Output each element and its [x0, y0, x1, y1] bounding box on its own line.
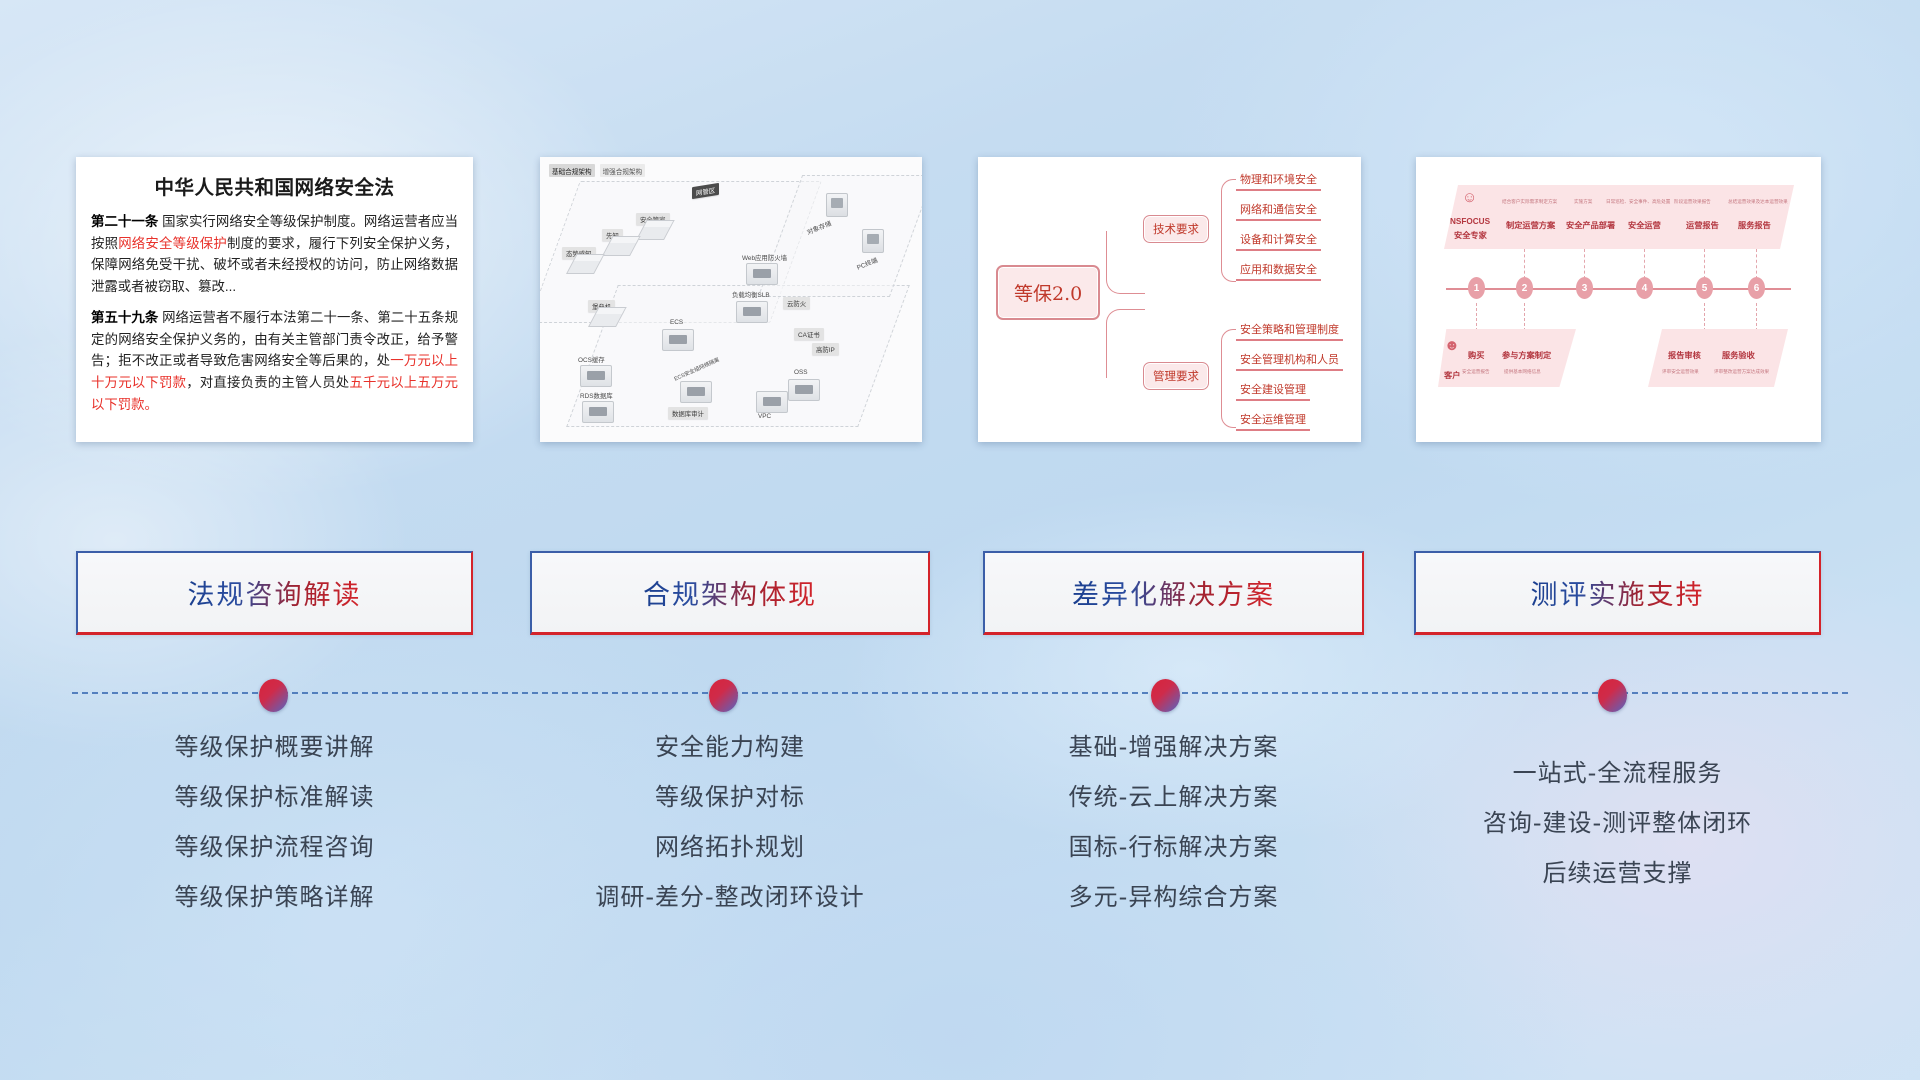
- list-item: 安全能力构建: [530, 735, 930, 759]
- timeline-dot-1: [259, 679, 288, 712]
- list-item: 等级保护概要讲解: [76, 735, 473, 759]
- mindmap-leaf-network-comm: 网络和通信安全: [1236, 201, 1321, 221]
- architecture-icon-pc-1: [826, 193, 848, 217]
- customer-avatar-icon: ☻: [1444, 337, 1460, 354]
- roadmap-actor-nsfocus-line2: 安全专家: [1454, 229, 1487, 241]
- card-compliance-architecture: 基础合规架构 增强合规架构 网管区 安全管家 先知 态势感知 堡垒机 ECS 云…: [540, 157, 922, 442]
- roadmap-top-title-2: 安全产品部署: [1566, 219, 1615, 231]
- detail-list-row: 等级保护概要讲解 等级保护标准解读 等级保护流程咨询 等级保护策略详解 安全能力…: [0, 735, 1920, 1015]
- heading-row: 法规咨询解读 合规架构体现 差异化解决方案 测评实施支持: [0, 551, 1920, 641]
- roadmap-bottom-title-1: 购买: [1468, 349, 1484, 361]
- mindmap-leaf-device-compute: 设备和计算安全: [1236, 231, 1321, 251]
- list-item: 多元-异构综合方案: [983, 885, 1364, 909]
- law-article-59-label: 第五十九条: [91, 310, 158, 325]
- law-article-59-text-b: ，对直接负责的主管人员处: [186, 375, 349, 390]
- law-article-21-label: 第二十一条: [91, 214, 158, 229]
- architecture-icon-server-audit: [680, 381, 712, 403]
- architecture-icon-pc-2: [862, 229, 884, 253]
- roadmap-vdash-3: [1644, 249, 1645, 279]
- timeline-dot-3: [1151, 679, 1180, 712]
- heading-box-evaluation-support[interactable]: 测评实施支持: [1414, 551, 1821, 635]
- architecture-icon-server-vpc: [756, 391, 788, 413]
- mindmap-connector-mgmt-leaves-2: [1221, 375, 1236, 428]
- law-article-21-highlight: 网络安全等级保护: [118, 236, 227, 251]
- list-item: 国标-行标解决方案: [983, 835, 1364, 859]
- roadmap-top-sub-5: 总结运营效果及达本运营效果: [1728, 199, 1788, 205]
- roadmap-top-band: [1444, 185, 1794, 249]
- mindmap-leaf-ops-mgmt: 安全运维管理: [1236, 411, 1310, 431]
- architecture-node-cloud-fw: 云防火: [783, 297, 810, 309]
- law-article-21: 第二十一条 国家实行网络安全等级保护制度。网络运营者应当按照网络安全等级保护制度…: [91, 211, 458, 298]
- mindmap-leaf-policy-system: 安全策略和管理制度: [1236, 321, 1343, 341]
- image-card-row: 中华人民共和国网络安全法 第二十一条 国家实行网络安全等级保护制度。网络运营者应…: [0, 157, 1920, 442]
- roadmap-actor-nsfocus-line1: NSFOCUS: [1450, 217, 1490, 226]
- timeline-dot-2: [709, 679, 738, 712]
- list-item: 等级保护对标: [530, 785, 930, 809]
- architecture-icon-server-oss: [788, 379, 820, 401]
- law-title: 中华人民共和国网络安全法: [91, 171, 458, 200]
- architecture-node-rds: RDS数据库: [576, 389, 617, 401]
- roadmap-bottom-sub-4: 评审整改运营方案达成效果: [1714, 369, 1769, 375]
- mindmap-connector-tech-leaves-2: [1221, 231, 1236, 282]
- detail-column-4: 一站式-全流程服务 咨询-建设-测评整体闭环 后续运营支撑: [1414, 735, 1821, 911]
- architecture-node-waf: Web应用防火墙: [738, 251, 791, 263]
- mindmap-connector-management: [1106, 309, 1145, 378]
- list-item: 等级保护标准解读: [76, 785, 473, 809]
- heading-box-differentiated-solution[interactable]: 差异化解决方案: [983, 551, 1364, 635]
- roadmap-bottom-title-4: 服务验收: [1722, 349, 1755, 361]
- roadmap-milestone-1: 1: [1468, 277, 1485, 299]
- architecture-icon-server-ecs: [662, 329, 694, 351]
- mindmap-branch-technical: 技术要求: [1143, 215, 1209, 243]
- mindmap-leaf-physical-env: 物理和环境安全: [1236, 171, 1321, 191]
- roadmap-bottom-sub-1: 安全运营报告: [1462, 369, 1490, 375]
- roadmap-top-sub-1: 结合客户实际需求制定方案: [1502, 199, 1557, 205]
- mindmap-leaf-app-data: 应用和数据安全: [1236, 261, 1321, 281]
- architecture-tab-group: 基础合规架构 增强合规架构: [549, 164, 645, 177]
- roadmap-milestone-6: 6: [1748, 277, 1765, 299]
- heading-label-4: 测评实施支持: [1531, 573, 1705, 612]
- detail-column-3: 基础-增强解决方案 传统-云上解决方案 国标-行标解决方案 多元-异构综合方案: [983, 735, 1364, 935]
- roadmap-top-title-5: 服务报告: [1738, 219, 1771, 231]
- roadmap-vdash-b5: [1704, 303, 1705, 331]
- architecture-node-oss: OSS: [790, 367, 812, 377]
- roadmap-vdash-5: [1756, 249, 1757, 279]
- architecture-node-slb: 负载均衡SLB: [728, 288, 774, 300]
- expert-avatar-icon: ☺: [1462, 189, 1477, 206]
- architecture-icon-server-slb: [736, 301, 768, 323]
- card-cybersecurity-law: 中华人民共和国网络安全法 第二十一条 国家实行网络安全等级保护制度。网络运营者应…: [76, 157, 473, 442]
- roadmap-milestone-2: 2: [1516, 277, 1533, 299]
- roadmap-bottom-sub-2: 提供基本网络信息: [1504, 369, 1541, 375]
- roadmap-top-title-3: 安全运营: [1628, 219, 1661, 231]
- roadmap-vdash-b1: [1476, 303, 1477, 331]
- architecture-icon-server-ocs: [580, 365, 612, 387]
- list-item: 等级保护流程咨询: [76, 835, 473, 859]
- heading-box-regulation-consulting[interactable]: 法规咨询解读: [76, 551, 473, 635]
- heading-label-1: 法规咨询解读: [188, 573, 362, 612]
- roadmap-vdash-b2: [1524, 303, 1525, 331]
- roadmap-top-sub-3: 日常巡检、安全事件、高危处置: [1606, 199, 1670, 205]
- card-dengbao-mindmap: 等保2.0 技术要求 管理要求 物理和环境安全 网络和通信安全 设备和计算安全 …: [978, 157, 1361, 442]
- mindmap-leaf-org-personnel: 安全管理机构和人员: [1236, 351, 1343, 371]
- roadmap-bottom-title-3: 报告审核: [1668, 349, 1701, 361]
- roadmap-vdash-1: [1524, 249, 1525, 279]
- list-item: 一站式-全流程服务: [1414, 761, 1821, 785]
- roadmap-vdash-4: [1704, 249, 1705, 279]
- roadmap-top-sub-2: 实施方案: [1574, 199, 1592, 205]
- list-item: 传统-云上解决方案: [983, 785, 1364, 809]
- architecture-tab-enhanced[interactable]: 增强合规架构: [600, 164, 646, 177]
- roadmap-milestone-3: 3: [1576, 277, 1593, 299]
- architecture-icon-server-rds: [582, 401, 614, 423]
- architecture-node-ca: CA证书: [794, 328, 824, 340]
- list-item: 等级保护策略详解: [76, 885, 473, 909]
- roadmap-top-sub-4: 阶段运营效果报告: [1674, 199, 1711, 205]
- roadmap-bottom-title-2: 参与方案制定: [1502, 349, 1551, 361]
- mindmap-connector-technical: [1106, 231, 1145, 294]
- roadmap-bottom-sub-3: 评审安全运营效果: [1662, 369, 1699, 375]
- roadmap-top-title-1: 制定运营方案: [1506, 219, 1555, 231]
- list-item: 网络拓扑规划: [530, 835, 930, 859]
- roadmap-vdash-b6: [1756, 303, 1757, 331]
- mindmap-leaf-construction-mgmt: 安全建设管理: [1236, 381, 1310, 401]
- heading-label-3: 差异化解决方案: [1072, 573, 1275, 612]
- timeline-dot-4: [1598, 679, 1627, 712]
- list-item: 咨询-建设-测评整体闭环: [1414, 811, 1821, 835]
- list-item: 调研-差分-整改闭环设计: [530, 885, 930, 909]
- roadmap-actor-customer: 客户: [1444, 369, 1460, 381]
- card-service-roadmap: ☺ NSFOCUS 安全专家 结合客户实际需求制定方案 制定运营方案 实施方案 …: [1416, 157, 1821, 442]
- roadmap-top-title-4: 运营报告: [1686, 219, 1719, 231]
- architecture-icon-server-waf: [746, 263, 778, 285]
- architecture-node-ocs: OCS缓存: [574, 353, 609, 365]
- mindmap-connector-mgmt-leaves: [1221, 329, 1236, 378]
- architecture-tab-basic[interactable]: 基础合规架构: [549, 164, 595, 177]
- mindmap-root-node: 等保2.0: [996, 265, 1100, 320]
- law-article-59: 第五十九条 网络运营者不履行本法第二十一条、第二十五条规定的网络安全保护义务的，…: [91, 307, 458, 416]
- roadmap-timeline-axis: [1446, 288, 1791, 290]
- roadmap-milestone-4: 4: [1636, 277, 1653, 299]
- architecture-node-ecs: ECS: [666, 317, 687, 327]
- roadmap-vdash-2: [1584, 249, 1585, 279]
- architecture-node-gaofang-ip: 高防IP: [812, 343, 839, 355]
- heading-box-compliance-architecture[interactable]: 合规架构体现: [530, 551, 930, 635]
- detail-column-1: 等级保护概要讲解 等级保护标准解读 等级保护流程咨询 等级保护策略详解: [76, 735, 473, 935]
- roadmap-milestone-5: 5: [1696, 277, 1713, 299]
- mindmap-branch-management: 管理要求: [1143, 362, 1209, 390]
- list-item: 后续运营支撑: [1414, 861, 1821, 885]
- heading-label-2: 合规架构体现: [643, 573, 817, 612]
- detail-column-2: 安全能力构建 等级保护对标 网络拓扑规划 调研-差分-整改闭环设计: [530, 735, 930, 935]
- list-item: 基础-增强解决方案: [983, 735, 1364, 759]
- architecture-node-db-audit: 数据库审计: [668, 407, 708, 419]
- timeline-dashed-line: [72, 692, 1848, 696]
